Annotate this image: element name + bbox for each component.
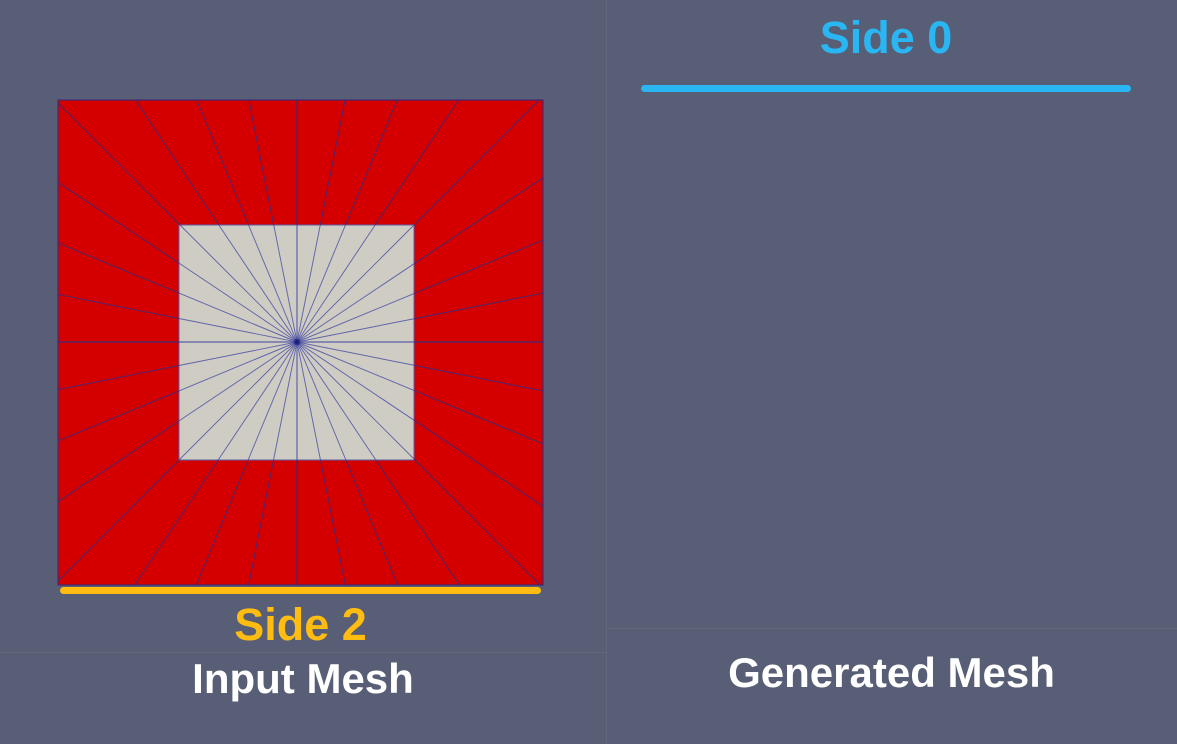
input-mesh-caption: Input Mesh <box>0 654 606 704</box>
side-0-label: Side 0 <box>639 12 1133 64</box>
generated-mesh-caption: Generated Mesh <box>606 648 1177 698</box>
panel-generated-mesh[interactable]: Side 0 Generated Mesh <box>606 0 1177 744</box>
input-mesh-render <box>52 94 549 591</box>
panel-input-mesh[interactable]: Side 2 Input Mesh <box>0 0 606 744</box>
side-0-highlight-line <box>641 85 1131 92</box>
screenshot-root: Side 2 Input Mesh Side 0 Generated Mesh <box>0 0 1177 744</box>
side-2-highlight-line <box>60 587 541 594</box>
side-2-label: Side 2 <box>58 599 543 651</box>
input-mesh-viewport[interactable] <box>52 94 549 591</box>
